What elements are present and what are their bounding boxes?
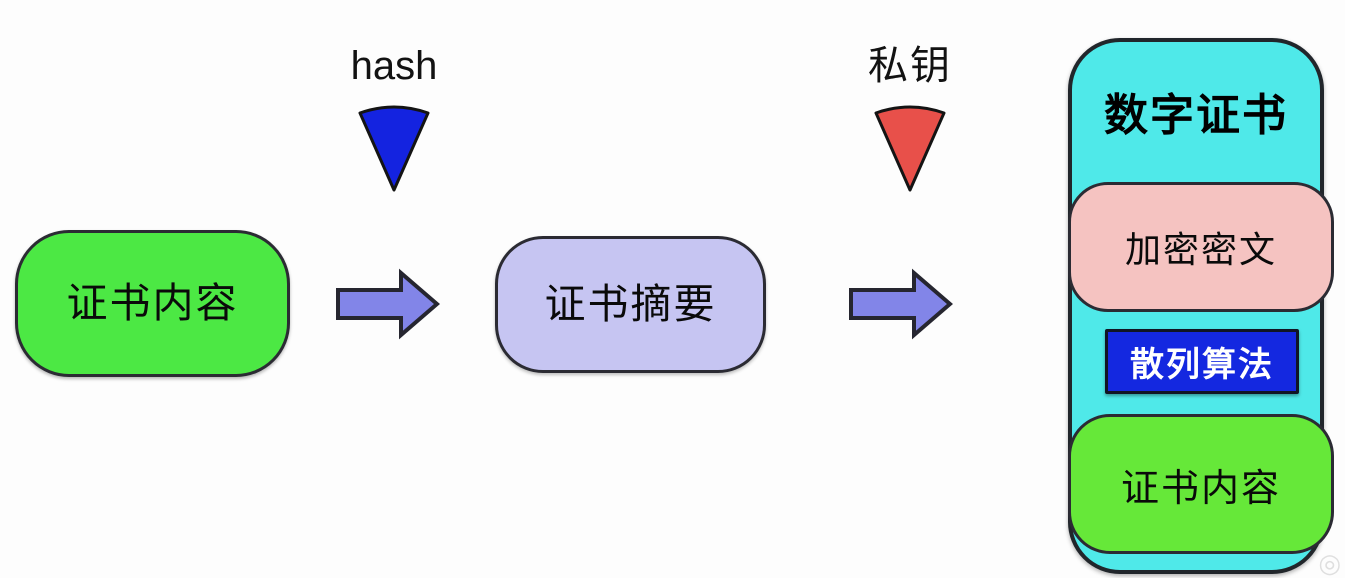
- hash-label: hash: [351, 46, 438, 86]
- corner-watermark: ◎: [1318, 550, 1341, 576]
- certificate-slot-cipher: 加密密文: [1068, 182, 1334, 312]
- diagram-canvas: 证书内容 hash 证书摘要 私钥 数字证书 加密密文 散列算法: [0, 0, 1345, 578]
- certificate-slot-content: 证书内容: [1068, 414, 1334, 554]
- slot-label: 证书内容: [1121, 457, 1281, 512]
- private-key-step-group: 私钥: [850, 46, 970, 192]
- hash-wedge-icon: [356, 100, 432, 192]
- slot-label: 加密密文: [1125, 221, 1277, 273]
- node-label: 证书内容: [67, 283, 239, 324]
- hash-step-group: hash: [334, 46, 454, 192]
- node-certificate-content-source: 证书内容: [15, 230, 290, 377]
- node-label: 证书摘要: [545, 284, 717, 325]
- slot-label: 散列算法: [1130, 337, 1274, 386]
- digital-certificate-panel: 数字证书 加密密文 散列算法 证书内容: [1068, 38, 1324, 574]
- node-certificate-digest: 证书摘要: [495, 236, 766, 373]
- flow-arrow-hash: [335, 268, 440, 340]
- flow-arrow-sign: [848, 268, 953, 340]
- private-key-label: 私钥: [868, 46, 952, 86]
- private-key-wedge-icon: [872, 100, 948, 192]
- certificate-title: 数字证书: [1072, 94, 1320, 138]
- certificate-slot-algorithm: 散列算法: [1105, 329, 1299, 394]
